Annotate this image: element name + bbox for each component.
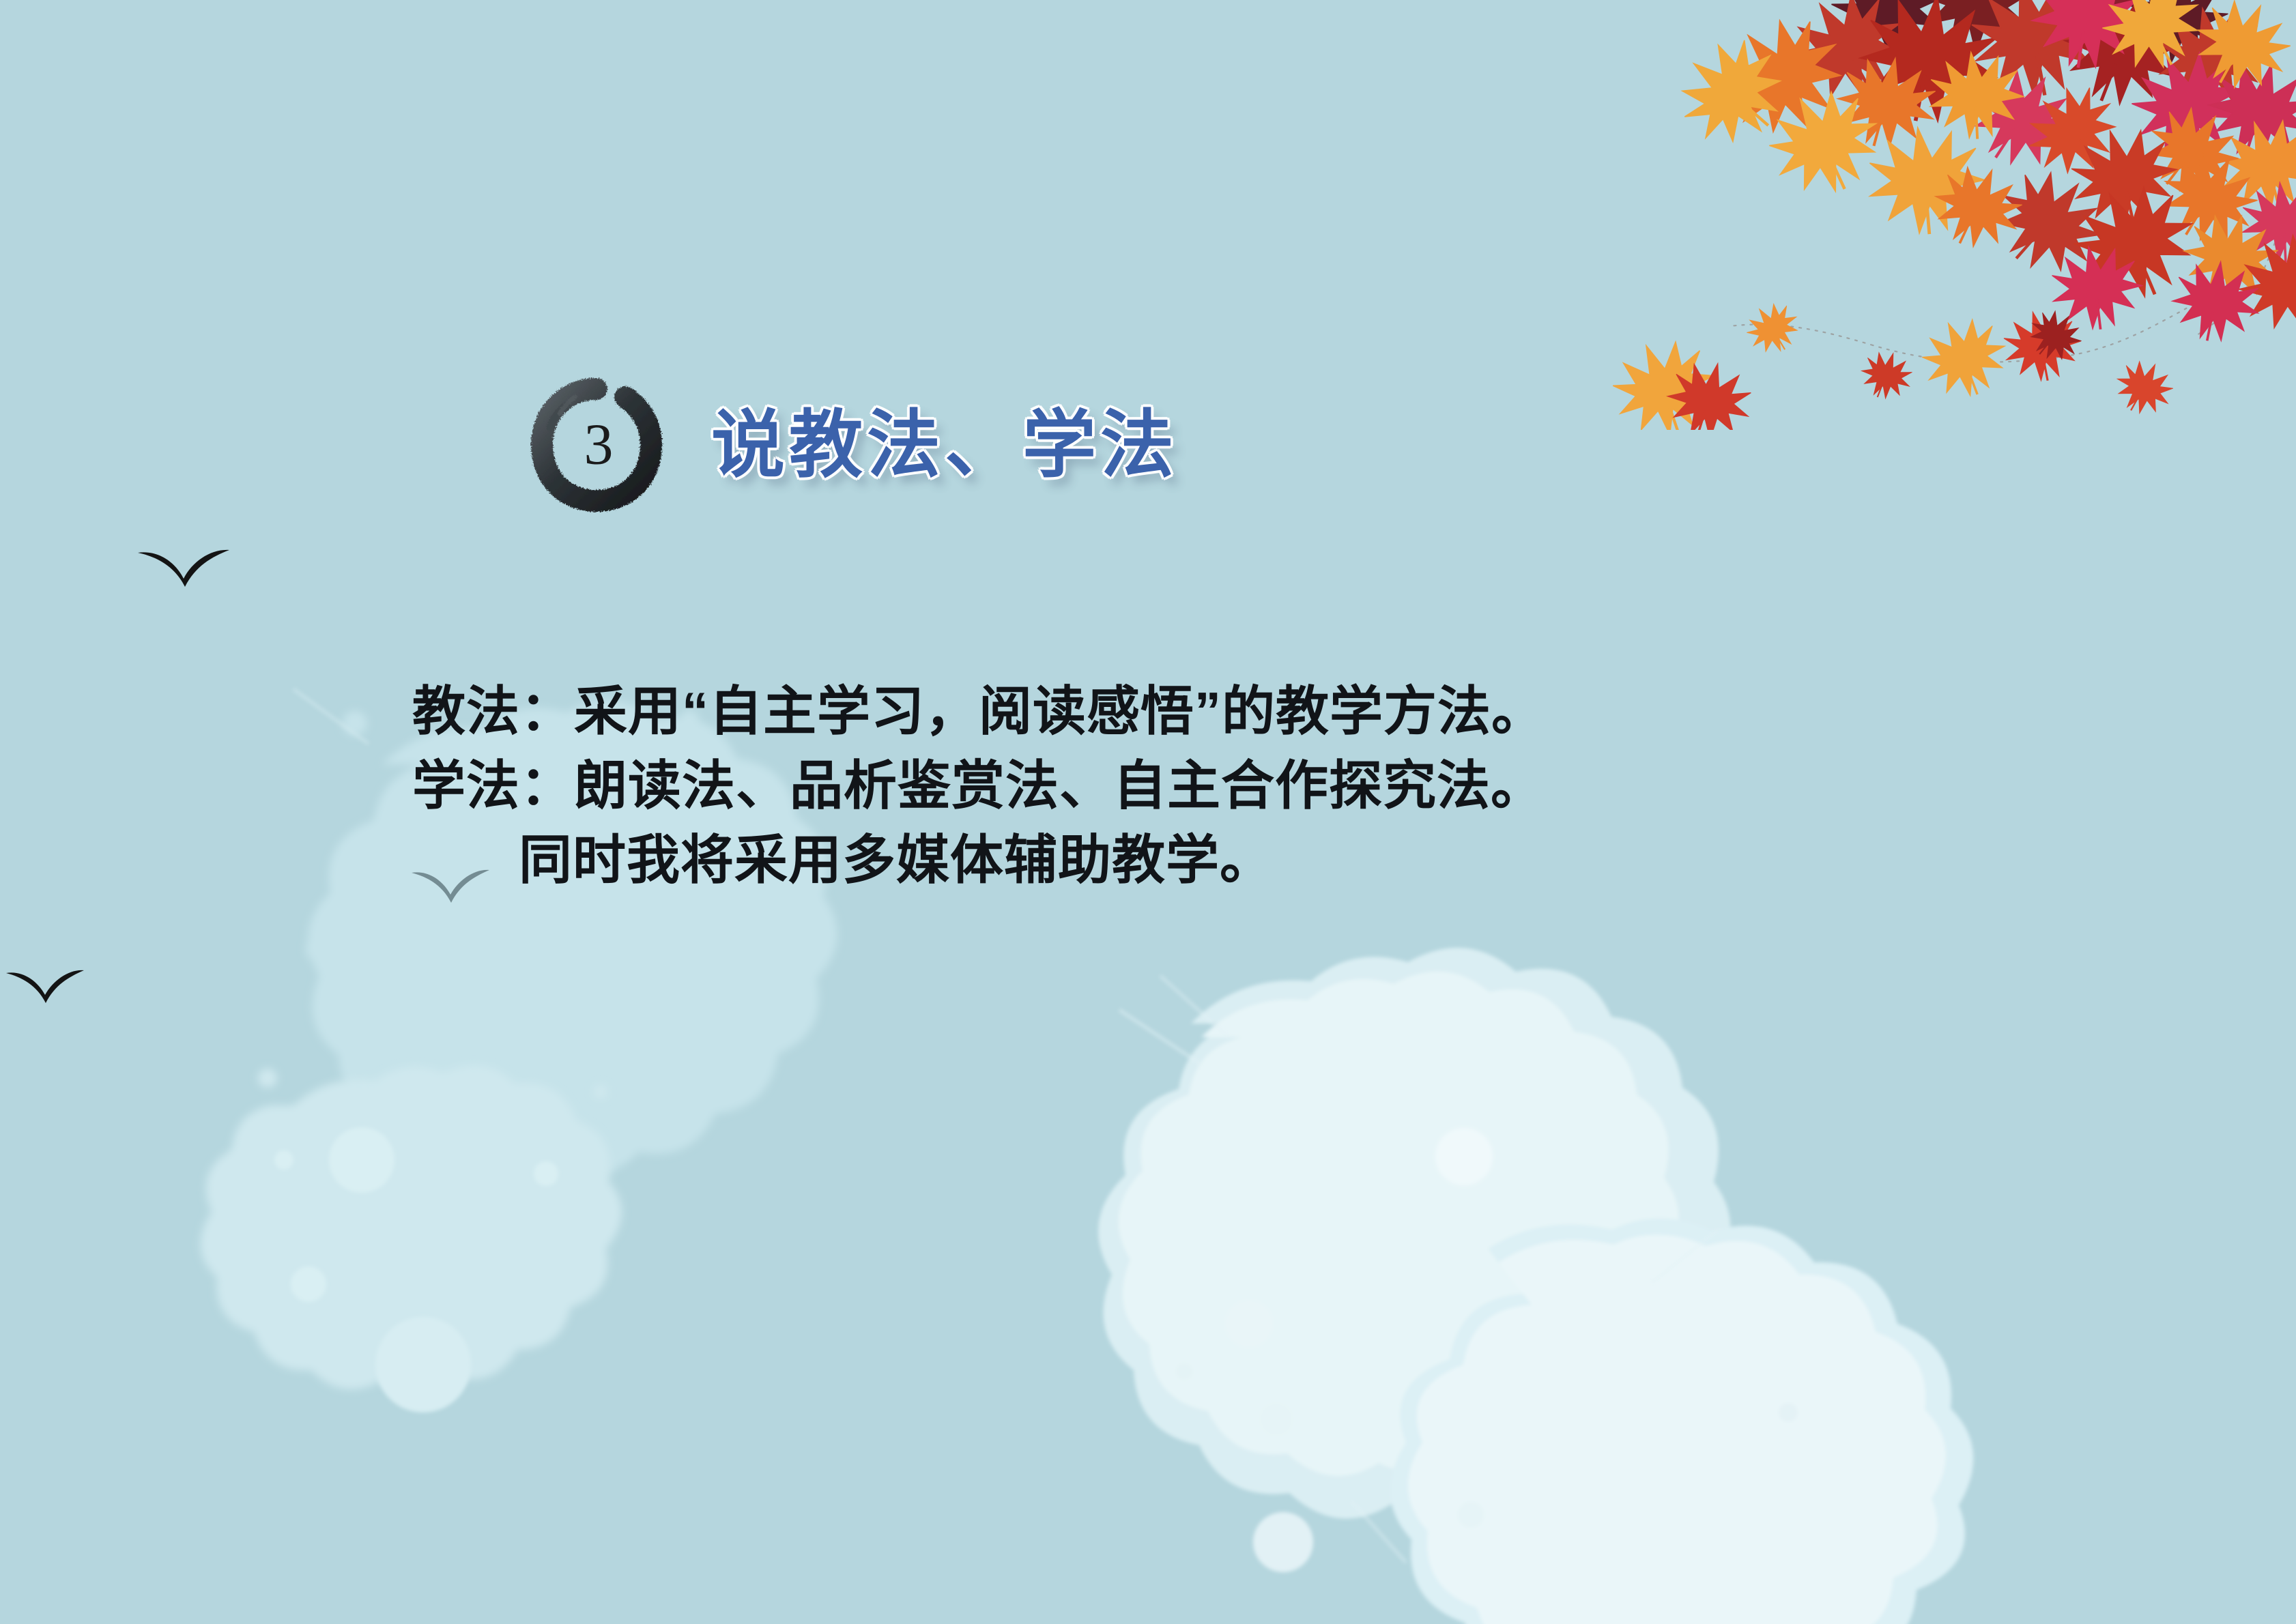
ink-splatter-icon	[1098, 948, 1973, 1624]
ink-splatter-icon	[201, 1065, 622, 1393]
body-line-1: 教法：采用“自主学习，阅读感悟”的教学方法。	[412, 674, 1846, 749]
slide-body: 教法：采用“自主学习，阅读感悟”的教学方法。 学法：朗读法、品析鉴赏法、自主合作…	[412, 674, 1846, 898]
presentation-slide: 3 说教法、学法 教法：采用“自主学习，阅读感悟”的教学方法。 学法：朗读法、品…	[0, 0, 2296, 1624]
brush-circle-icon: 3	[526, 374, 668, 516]
maple-leaf-cluster-icon	[1504, 0, 2296, 430]
flying-bird-icon	[135, 534, 232, 595]
flying-bird-icon	[4, 957, 86, 1010]
body-line-2: 学法：朗读法、品析鉴赏法、自主合作探究法。	[412, 749, 1846, 823]
page-title: 说教法、学法	[711, 406, 1178, 483]
body-line-3: 同时我将采用多媒体辅助教学。	[412, 823, 1846, 897]
slide-title-row: 3 说教法、学法	[526, 374, 1178, 516]
badge-number: 3	[526, 414, 668, 473]
ink-splatter-icon	[274, 1127, 558, 1412]
